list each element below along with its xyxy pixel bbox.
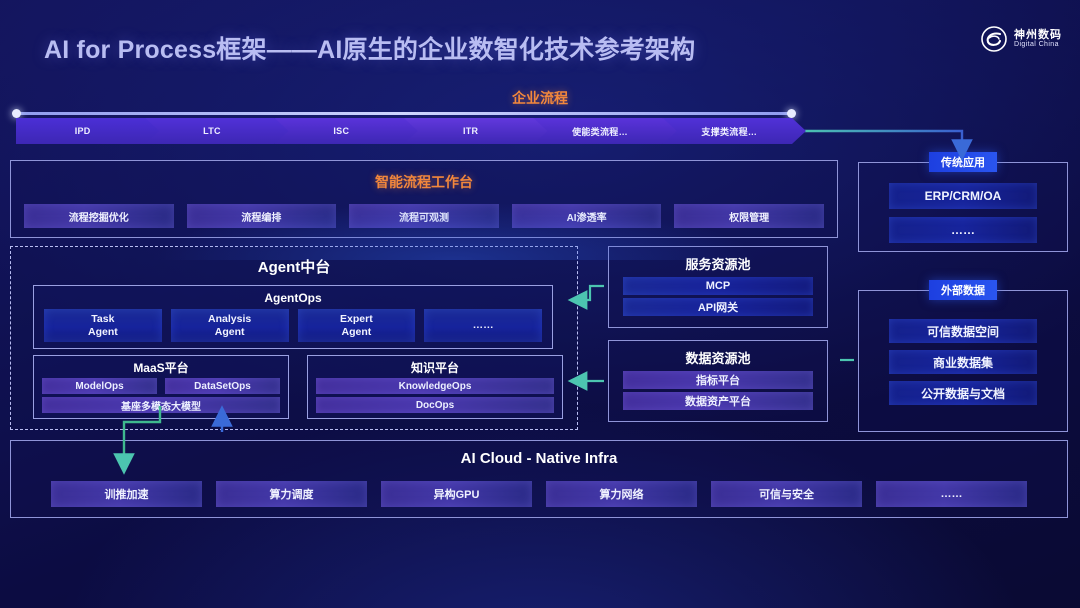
infra-item-4[interactable]: 算力网络 (546, 481, 697, 507)
knowledge-platform-block: 知识平台 KnowledgeOps DocOps (307, 355, 563, 419)
data-resource-pool: 数据资源池 指标平台 数据资产平台 (608, 340, 828, 422)
agentops-item-line2: Agent (342, 326, 372, 339)
agentops-block: AgentOps TaskAgentAnalysisAgentExpertAge… (33, 285, 553, 349)
logo-cn-text: 神州数码 (1014, 30, 1062, 42)
service-pool-title: 服务资源池 (609, 254, 827, 273)
external-data-item-1[interactable]: 可信数据空间 (889, 319, 1037, 343)
knowledge-row-2: DocOps (316, 397, 554, 413)
data-pool-item-2[interactable]: 数据资产平台 (623, 392, 813, 410)
external-data: 外部数据 可信数据空间商业数据集公开数据与文档 (858, 290, 1068, 432)
process-rail (16, 112, 792, 115)
traditional-app-item-1[interactable]: ERP/CRM/OA (889, 183, 1037, 209)
knowledge-item-1[interactable]: KnowledgeOps (316, 378, 554, 394)
workbench-item-4[interactable]: AI渗透率 (512, 204, 662, 228)
maas-row-1: ModelOpsDataSetOps (42, 378, 280, 394)
process-step-label: 使能类流程… (572, 125, 638, 138)
external-data-item-2[interactable]: 商业数据集 (889, 350, 1037, 374)
process-flow-label: 企业流程 (0, 88, 1080, 108)
traditional-apps-items: ERP/CRM/OA…… (889, 183, 1037, 243)
external-data-items: 可信数据空间商业数据集公开数据与文档 (889, 319, 1037, 405)
traditional-app-item-2[interactable]: …… (889, 217, 1037, 243)
infra-item-6[interactable]: …… (876, 481, 1027, 507)
process-step-label: IPD (75, 126, 101, 136)
process-step-2[interactable]: LTC (145, 118, 288, 144)
process-step-label: 支撑类流程… (701, 125, 767, 138)
knowledge-item-b-1[interactable]: DocOps (316, 397, 554, 413)
infra-item-1[interactable]: 训推加速 (51, 481, 202, 507)
agent-platform: Agent中台 AgentOps TaskAgentAnalysisAgentE… (10, 246, 578, 430)
service-pool-item-1[interactable]: MCP (623, 277, 813, 295)
external-data-item-3[interactable]: 公开数据与文档 (889, 381, 1037, 405)
traditional-apps-tag: 传统应用 (929, 152, 997, 172)
process-step-1[interactable]: IPD (16, 118, 159, 144)
traditional-applications: 传统应用 ERP/CRM/OA…… (858, 162, 1068, 252)
process-step-5[interactable]: 使能类流程… (533, 118, 676, 144)
workbench-item-1[interactable]: 流程挖掘优化 (24, 204, 174, 228)
process-step-4[interactable]: ITR (404, 118, 547, 144)
process-step-6[interactable]: 支撑类流程… (663, 118, 806, 144)
data-pool-row-2: 数据资产平台 (623, 392, 813, 410)
workbench-items: 流程挖掘优化流程编排流程可观测AI渗透率权限管理 (24, 204, 824, 228)
data-pool-item-1[interactable]: 指标平台 (623, 371, 813, 389)
service-pool-row-1: MCP (623, 277, 813, 295)
rail-dot-right (787, 109, 796, 118)
workbench-item-3[interactable]: 流程可观测 (349, 204, 499, 228)
agentops-items: TaskAgentAnalysisAgentExpertAgent…… (44, 309, 542, 342)
agentops-item-3[interactable]: ExpertAgent (298, 309, 416, 342)
data-pool-row-1: 指标平台 (623, 371, 813, 389)
workbench-item-5[interactable]: 权限管理 (674, 204, 824, 228)
knowledge-title: 知识平台 (308, 359, 562, 376)
page-title: AI for Process框架——AI原生的企业数智化技术参考架构 (44, 30, 695, 66)
infra-items: 训推加速算力调度异构GPU算力网络可信与安全…… (51, 481, 1027, 507)
knowledge-row-1: KnowledgeOps (316, 378, 554, 394)
agentops-item-line2: Agent (88, 326, 118, 339)
maas-item-1[interactable]: ModelOps (42, 378, 157, 394)
agentops-item-line1: Analysis (208, 313, 251, 326)
digital-china-swirl-icon (981, 26, 1007, 52)
infra-item-5[interactable]: 可信与安全 (711, 481, 862, 507)
infra-title: AI Cloud - Native Infra (11, 450, 1067, 467)
agentops-item-1[interactable]: TaskAgent (44, 309, 162, 342)
agentops-item-line1: …… (473, 319, 494, 332)
data-pool-title: 数据资源池 (609, 348, 827, 367)
agentops-item-line1: Task (91, 313, 114, 326)
infra-item-2[interactable]: 算力调度 (216, 481, 367, 507)
service-pool-row-2: API网关 (623, 298, 813, 316)
external-data-tag: 外部数据 (929, 280, 997, 300)
intelligent-process-workbench: 智能流程工作台 流程挖掘优化流程编排流程可观测AI渗透率权限管理 (10, 160, 838, 238)
process-step-label: LTC (203, 126, 231, 136)
agentops-item-4[interactable]: …… (424, 309, 542, 342)
infra-item-3[interactable]: 异构GPU (381, 481, 532, 507)
maas-title: MaaS平台 (34, 359, 288, 376)
service-pool-item-2[interactable]: API网关 (623, 298, 813, 316)
maas-base-item-1[interactable]: 基座多模态大模型 (42, 397, 280, 413)
agentops-item-line2: Agent (215, 326, 245, 339)
agent-platform-title: Agent中台 (11, 256, 577, 277)
brand-logo: 神州数码 Digital China (981, 26, 1062, 52)
maas-item-2[interactable]: DataSetOps (165, 378, 280, 394)
maas-row-2: 基座多模态大模型 (42, 397, 280, 413)
agentops-title: AgentOps (34, 291, 552, 305)
agentops-item-line1: Expert (340, 313, 373, 326)
rail-dot-left (12, 109, 21, 118)
service-resource-pool: 服务资源池 MCP API网关 (608, 246, 828, 328)
slide-canvas: AI for Process框架——AI原生的企业数智化技术参考架构 神州数码 … (0, 0, 1080, 608)
process-step-label: ISC (333, 126, 359, 136)
logo-en-text: Digital China (1014, 41, 1062, 48)
maas-platform-block: MaaS平台 ModelOpsDataSetOps 基座多模态大模型 (33, 355, 289, 419)
workbench-title: 智能流程工作台 (11, 172, 837, 192)
process-step-3[interactable]: ISC (275, 118, 418, 144)
process-step-label: ITR (463, 126, 488, 136)
agentops-item-2[interactable]: AnalysisAgent (171, 309, 289, 342)
process-chevron-bar: IPDLTCISCITR使能类流程…支撑类流程… (16, 118, 792, 144)
ai-cloud-native-infra: AI Cloud - Native Infra 训推加速算力调度异构GPU算力网… (10, 440, 1068, 518)
workbench-item-2[interactable]: 流程编排 (187, 204, 337, 228)
